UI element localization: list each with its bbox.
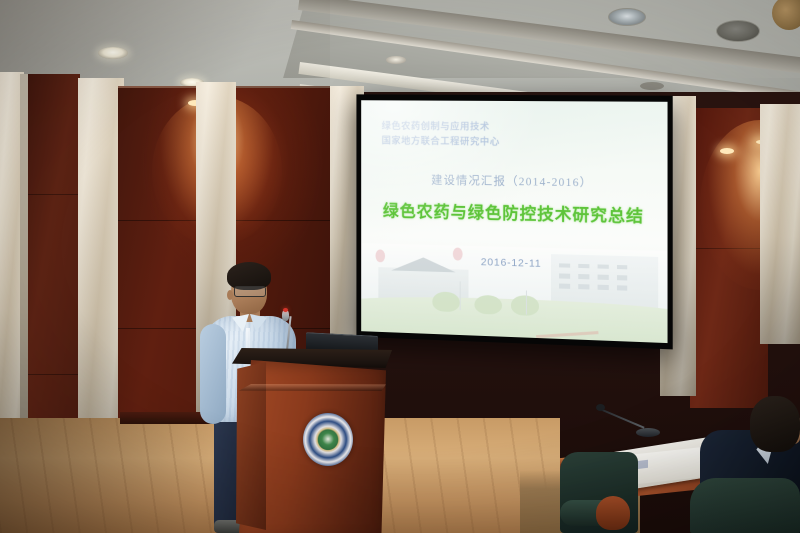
- projection-screen-frame: 绿色农药创制与应用技术 国家地方联合工程研究中心 建设情况汇报（2014-201…: [356, 94, 672, 349]
- projection-screen: 绿色农药创制与应用技术 国家地方联合工程研究中心 建设情况汇报（2014-201…: [361, 100, 667, 343]
- spotlight-icon: [720, 148, 734, 154]
- presenter-ear: [227, 290, 233, 300]
- presenter-arm: [200, 324, 226, 424]
- microphone-icon: [596, 404, 605, 411]
- marble-pilaster: [760, 104, 800, 344]
- conference-room-photo: 绿色农药创制与应用技术 国家地方联合工程研究中心 建设情况汇报（2014-201…: [0, 0, 800, 533]
- emblem-center: [318, 430, 338, 450]
- eyeglasses-icon: [234, 286, 266, 297]
- microphone-indicator-light: [283, 308, 288, 312]
- leather-armchair: [690, 478, 800, 533]
- ceiling-speaker-icon: [640, 82, 664, 90]
- attendee-head: [750, 396, 800, 452]
- ceiling-speaker-icon: [608, 8, 646, 26]
- university-seal-emblem: [303, 413, 353, 466]
- ceiling-speaker-icon: [716, 20, 760, 42]
- screen-glare: [361, 100, 542, 219]
- downlight-icon: [98, 47, 128, 59]
- armchair-wood-cap: [596, 496, 630, 530]
- podium-trim: [236, 384, 386, 391]
- microphone-base: [636, 428, 660, 437]
- downlight-icon: [386, 56, 406, 64]
